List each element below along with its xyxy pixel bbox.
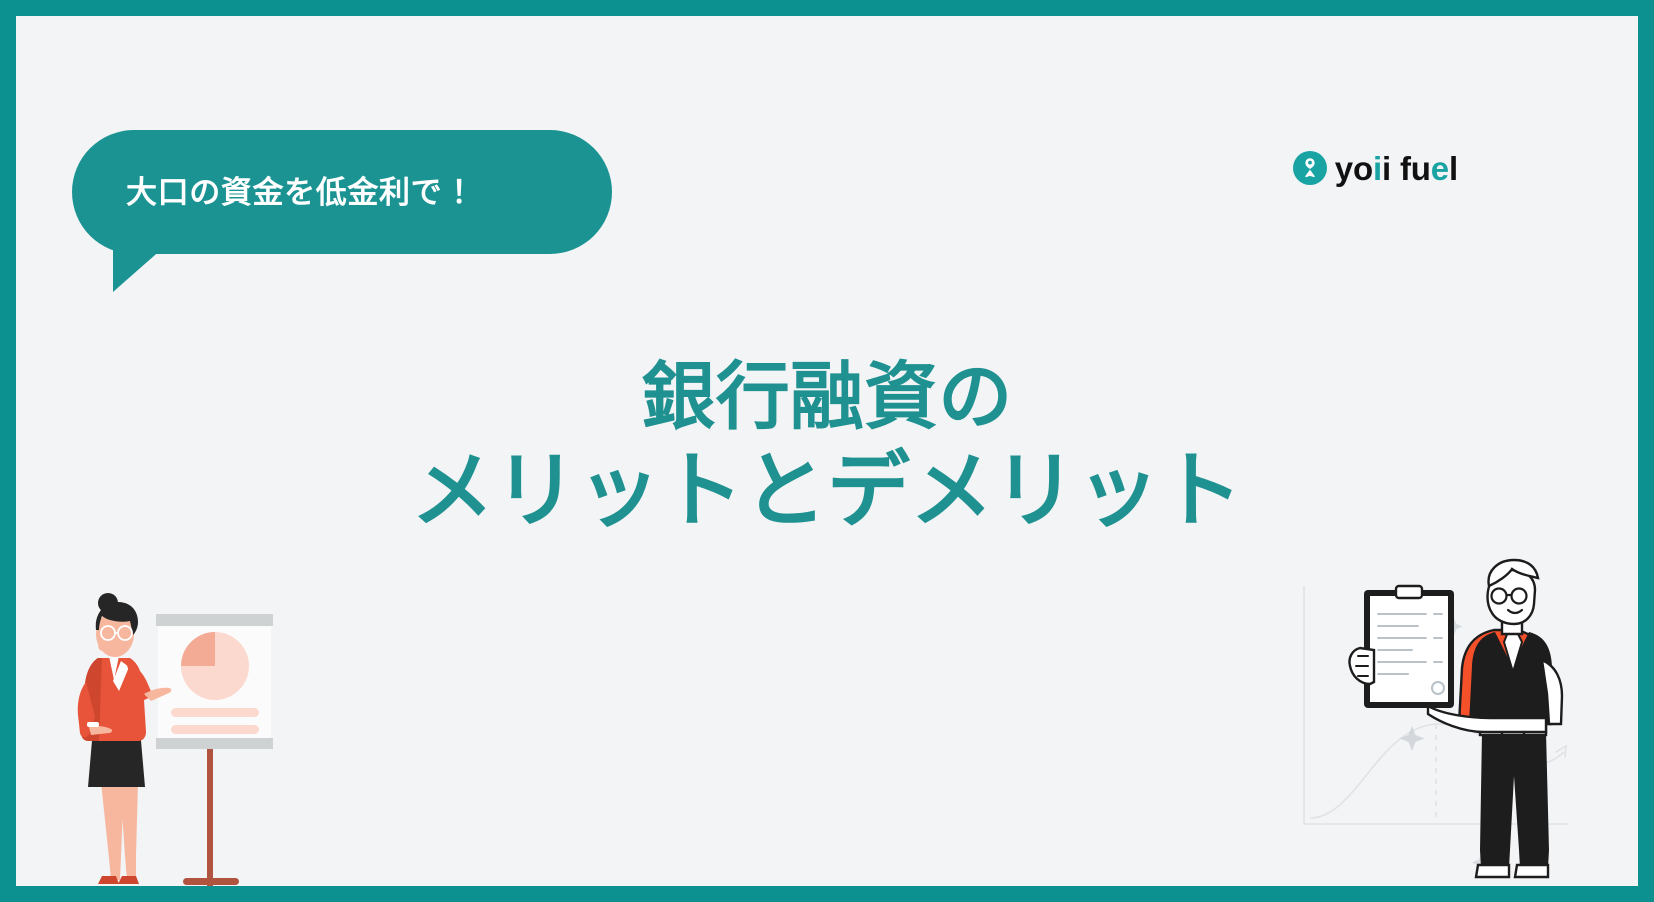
slide-canvas: 大口の資金を低金利で ！ yoii fuel 銀行融資の メリットとデメリット [0,0,1654,902]
speech-bubble-text: 大口の資金を低金利で ！ [72,177,483,208]
speech-bubble-tail [113,248,163,292]
slide-inner-panel: 大口の資金を低金利で ！ yoii fuel 銀行融資の メリットとデメリット [16,16,1638,886]
illustration-man-with-clipboard [1286,556,1586,886]
logo-text-part1: yo [1335,150,1373,187]
illustration-woman-presenting [60,586,340,886]
page-title-line-1: 銀行融資の [16,356,1638,439]
page-title: 銀行融資の メリットとデメリット [16,356,1638,538]
brand-logo[interactable]: yoii fuel [1292,150,1458,186]
logo-text-part3: l [1449,150,1458,187]
speech-bubble-body: 大口の資金を低金利で ！ [72,130,612,254]
speech-bubble-badge: 大口の資金を低金利で ！ [72,130,612,296]
yoii-rocket-icon [1292,150,1328,186]
logo-text-highlight1: i [1373,150,1382,187]
brand-logo-wordmark: yoii fuel [1335,152,1458,185]
logo-text-part2: i fu [1382,150,1431,187]
page-title-line-2: メリットとデメリット [16,445,1638,538]
logo-text-highlight2: e [1431,150,1449,187]
